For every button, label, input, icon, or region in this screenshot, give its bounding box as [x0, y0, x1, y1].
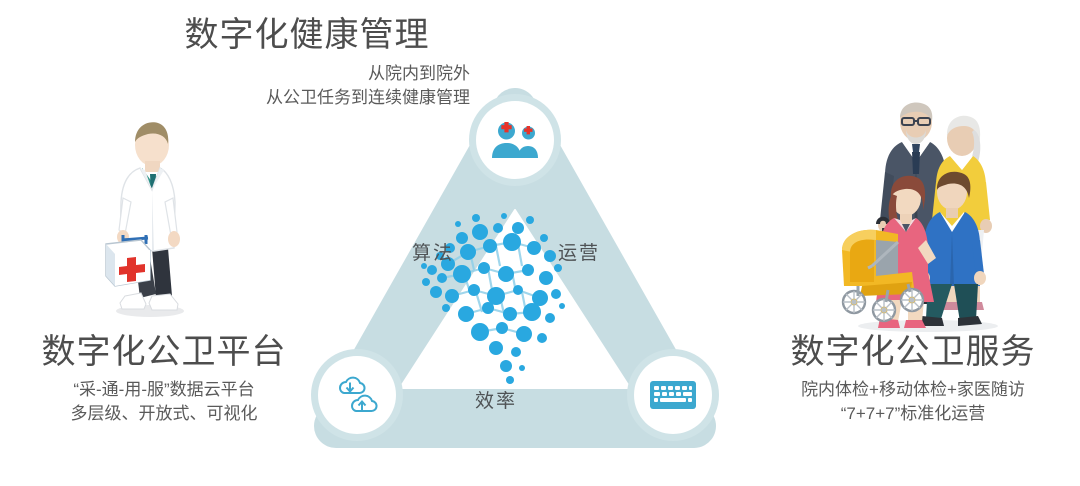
- left-subtitle-line-1: “采-通-用-服”数据云平台: [8, 378, 320, 402]
- right-block-title: 数字化公卫服务: [757, 333, 1069, 371]
- left-block-subtitles: “采-通-用-服”数据云平台 多层级、开放式、可视化: [8, 378, 320, 426]
- header-subtitle-line-1: 从院内到院外: [150, 62, 470, 86]
- right-block-subtitles: 院内体检+移动体检+家医随访 “7+7+7”标准化运营: [757, 378, 1069, 426]
- right-subtitle-line-2: “7+7+7”标准化运营: [757, 402, 1069, 426]
- triangle-diagram: 算法 运营 效率: [300, 88, 730, 458]
- node-top-health-population[interactable]: [476, 101, 554, 179]
- two-people-medical-icon: [492, 120, 538, 160]
- edge-label-efficiency: 效率: [475, 386, 517, 413]
- edge-label-operations: 运营: [558, 238, 600, 265]
- doctor-with-medical-bag-illustration: [78, 98, 218, 320]
- right-text-block: 数字化公卫服务 院内体检+移动体检+家医随访 “7+7+7”标准化运营: [757, 333, 1069, 426]
- infographic-canvas: 数字化健康管理 从院内到院外 从公卫任务到连续健康管理 数字化公卫平台 “采-通…: [0, 0, 1080, 486]
- node-bottom-right-service-entry[interactable]: [634, 356, 712, 434]
- node-bottom-left-cloud-platform[interactable]: [318, 356, 396, 434]
- right-subtitle-line-1: 院内体检+移动体检+家医随访: [757, 378, 1069, 402]
- left-block-title: 数字化公卫平台: [8, 333, 320, 371]
- left-subtitle-line-2: 多层级、开放式、可视化: [8, 402, 320, 426]
- family-with-stroller-illustration: [828, 90, 1018, 334]
- left-text-block: 数字化公卫平台 “采-通-用-服”数据云平台 多层级、开放式、可视化: [8, 333, 320, 426]
- page-title: 数字化健康管理: [150, 16, 470, 54]
- cloud-sync-icon: [334, 374, 380, 416]
- keyboard-icon: [649, 378, 697, 412]
- edge-label-algorithm: 算法: [412, 238, 454, 265]
